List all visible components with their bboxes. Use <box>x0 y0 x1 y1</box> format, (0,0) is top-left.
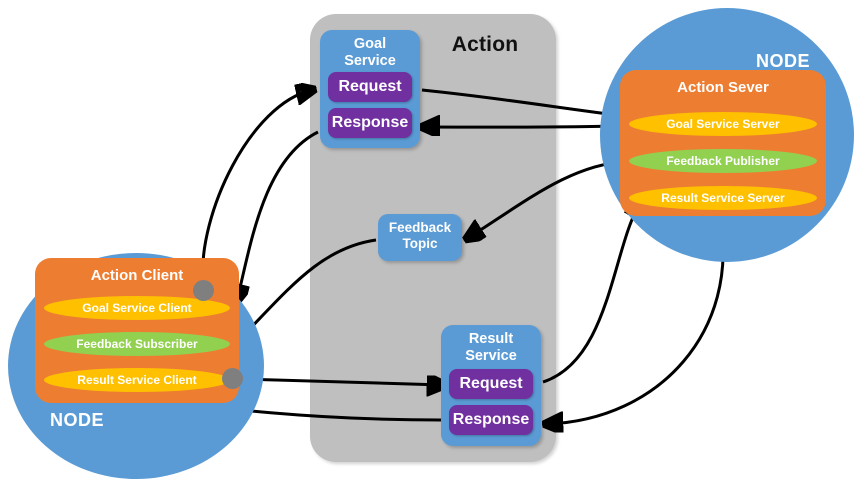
action-server-title: Action Sever <box>620 79 826 96</box>
result-service-server-oval[interactable]: Result Service Server <box>629 186 817 210</box>
result-service-title-line2: Service <box>465 348 517 364</box>
feedback-publisher-oval[interactable]: Feedback Publisher <box>629 149 817 173</box>
feedback-topic-title: Feedback Topic <box>378 220 462 252</box>
result-response-chip[interactable]: Response <box>449 405 533 435</box>
client-node-label: NODE <box>50 410 104 431</box>
goal-service-box[interactable]: Goal Service Request Response <box>320 30 420 148</box>
result-service-box[interactable]: Result Service Request Response <box>441 325 541 446</box>
arrow-resultrequest-to-resultserver <box>543 203 640 382</box>
action-server-box[interactable]: Action Sever Goal Service Server Feedbac… <box>620 70 826 216</box>
goal-service-title-line1: Goal <box>354 36 386 52</box>
server-node-label: NODE <box>756 51 810 72</box>
result-service-title-line1: Result <box>469 331 513 347</box>
feedback-topic-title-line2: Topic <box>403 236 438 251</box>
goal-service-title: Goal Service <box>320 36 420 70</box>
goal-response-chip[interactable]: Response <box>328 108 412 138</box>
goal-service-server-oval[interactable]: Goal Service Server <box>629 112 817 136</box>
action-panel-title: Action <box>420 33 550 57</box>
action-client-box[interactable]: Action Client Goal Service Client Feedba… <box>35 258 239 403</box>
result-client-connector-dot <box>222 368 243 389</box>
arrow-goalclient-to-goalrequest <box>203 90 312 281</box>
feedback-topic-title-line1: Feedback <box>389 220 451 235</box>
diagram-canvas: Action Goal Service <box>0 0 854 480</box>
result-request-chip[interactable]: Request <box>449 369 533 399</box>
arrow-goalresponse-to-goalclient <box>237 132 318 300</box>
goal-request-chip[interactable]: Request <box>328 72 412 102</box>
feedback-topic-box[interactable]: Feedback Topic <box>378 214 462 261</box>
result-service-title: Result Service <box>441 331 541 365</box>
result-service-client-oval[interactable]: Result Service Client <box>44 368 230 392</box>
goal-client-connector-dot <box>193 280 214 301</box>
goal-service-title-line2: Service <box>344 53 396 69</box>
feedback-subscriber-oval[interactable]: Feedback Subscriber <box>44 332 230 356</box>
